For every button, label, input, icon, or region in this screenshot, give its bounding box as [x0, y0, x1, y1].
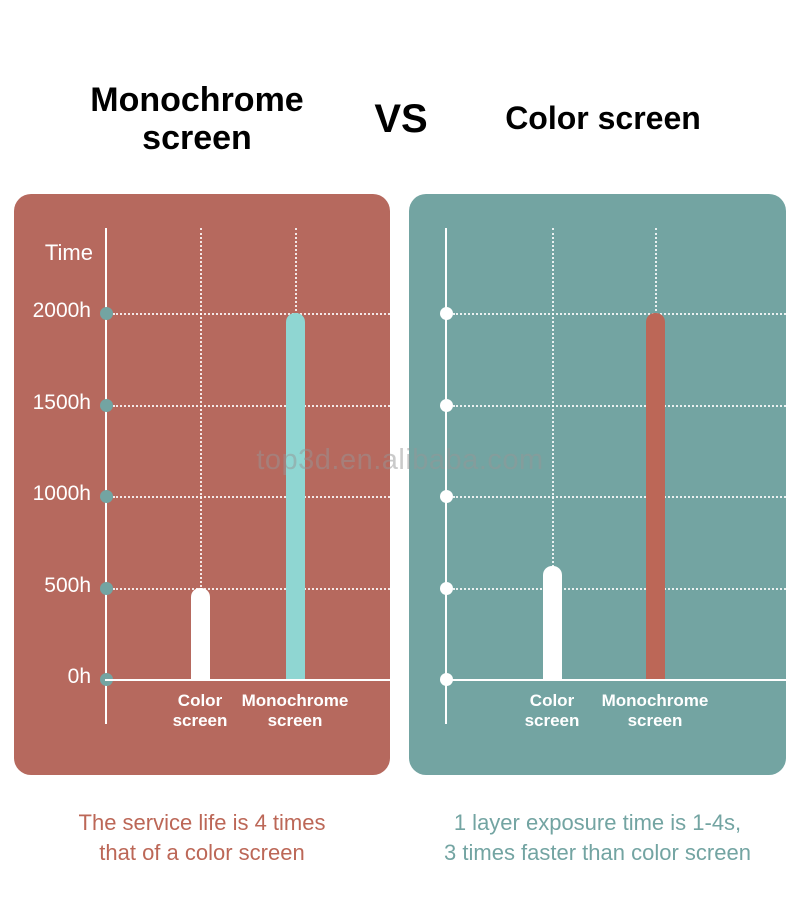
axis-tick-dot: [440, 307, 453, 320]
axis-tick-label: 1500h: [33, 391, 91, 415]
bar-chart-monochrome: 0h500h1000h1500h2000hColor screenMonochr…: [14, 194, 390, 775]
axis-tick-label: 500h: [44, 574, 91, 598]
bar-monochrome-screen: [286, 313, 305, 679]
gridline-horizontal: [453, 588, 786, 590]
caption-monochrome: The service life is 4 times that of a co…: [14, 808, 390, 868]
y-axis-title: Time: [45, 240, 93, 266]
header-term-color: Color screen: [453, 101, 753, 137]
category-label: Monochrome screen: [215, 691, 375, 731]
chart-panel-color: Color screenMonochrome screen: [409, 194, 786, 775]
axis-tick-dot: [100, 307, 113, 320]
gridline-horizontal: [453, 496, 786, 498]
gridline-horizontal: [113, 496, 390, 498]
x-axis-baseline: [445, 679, 786, 681]
header-term-monochrome: Monochrome screen: [47, 81, 347, 157]
axis-tick-dot: [100, 582, 113, 595]
axis-tick-label: 0h: [68, 665, 91, 689]
axis-tick-label: 1000h: [33, 482, 91, 506]
axis-tick-dot: [440, 582, 453, 595]
bar-monochrome-screen: [646, 313, 665, 679]
bar-color-screen: [191, 588, 210, 680]
header-vs-label: VS: [353, 97, 449, 142]
gridline-horizontal: [113, 313, 390, 315]
axis-tick-dot: [100, 490, 113, 503]
axis-tick-dot: [100, 399, 113, 412]
axis-tick-dot: [440, 490, 453, 503]
chart-panel-monochrome: 0h500h1000h1500h2000hColor screenMonochr…: [14, 194, 390, 775]
gridline-horizontal: [113, 405, 390, 407]
gridline-horizontal: [453, 405, 786, 407]
y-axis-line: [105, 228, 107, 724]
axis-tick-label: 2000h: [33, 299, 91, 323]
axis-tick-dot: [440, 399, 453, 412]
caption-color: 1 layer exposure time is 1-4s, 3 times f…: [409, 808, 786, 868]
category-label: Monochrome screen: [575, 691, 735, 731]
x-axis-baseline: [105, 679, 390, 681]
gridline-horizontal: [113, 588, 390, 590]
bar-color-screen: [543, 566, 562, 679]
header-title-row: Monochrome screen VS Color screen: [0, 64, 800, 174]
gridline-horizontal: [453, 313, 786, 315]
bar-chart-color: Color screenMonochrome screen: [409, 194, 786, 775]
y-axis-line: [445, 228, 447, 724]
